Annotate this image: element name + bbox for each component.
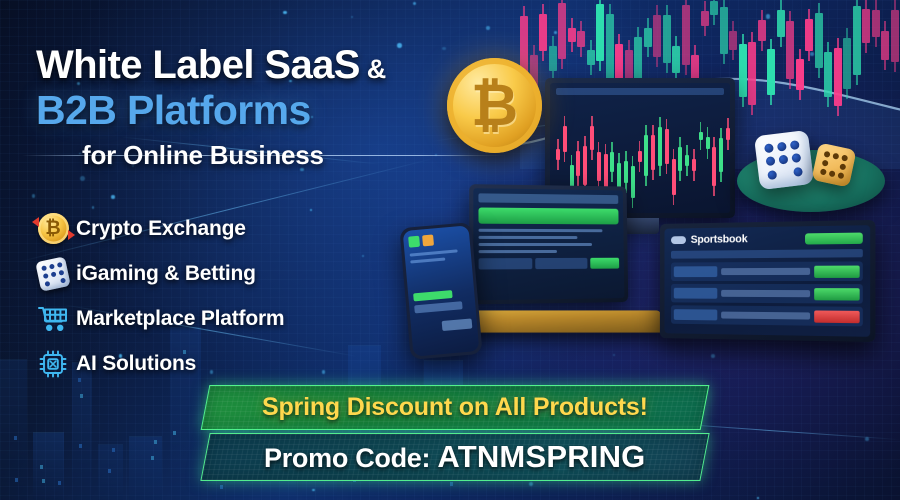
odds-cell <box>674 266 717 277</box>
bitcoin-coin-icon: ₿ <box>30 209 76 249</box>
headline-line-3-wrap: for Online Business <box>36 140 436 170</box>
bitcoin-glyph: ₿ <box>45 219 60 238</box>
feature-label: AI Solutions <box>76 352 196 376</box>
place-bet-button <box>814 288 859 300</box>
feature-item-ai-solutions: AI Solutions <box>30 341 284 386</box>
sportsbook-bet-row <box>671 261 863 281</box>
headline-line-3: for Online Business <box>74 140 332 171</box>
team-name-cell <box>721 290 810 297</box>
smartphone-device <box>399 222 482 360</box>
sportsbook-bet-row <box>671 284 863 304</box>
team-name-cell <box>721 268 810 275</box>
team-name-cell <box>721 312 810 320</box>
headline-line-2: B2B Platforms <box>36 88 436 134</box>
sportsbook-title: Sportsbook <box>691 233 748 246</box>
headline-ampersand: & <box>360 54 386 84</box>
promo-banner: Spring Discount on All Products! Promo C… <box>205 385 705 481</box>
feature-label: iGaming & Betting <box>76 262 256 286</box>
promo-code-value: ATNMSPRING <box>438 439 646 474</box>
bitcoin-symbol: ₿ <box>471 77 518 135</box>
laptop-device <box>469 184 628 304</box>
promo-code-line: Promo Code: ATNMSPRING <box>264 439 646 475</box>
promo-code-prefix: Promo Code: <box>264 443 430 473</box>
headline-line-1-text: White Label SaaS <box>36 43 360 87</box>
bitcoin-coin-hero-icon: ₿ <box>447 58 542 153</box>
discount-text: Spring Discount on All Products! <box>262 393 648 422</box>
feature-label: Crypto Exchange <box>76 217 246 241</box>
sportsbook-tv-device: Sportsbook <box>660 220 876 342</box>
odds-cell <box>674 288 717 299</box>
dice-icon <box>30 254 76 294</box>
feature-item-marketplace-platform: Marketplace Platform <box>30 296 284 341</box>
sportsbook-tabs <box>671 249 863 259</box>
feature-list: ₿ Crypto Exchange iGaming & Betting Mark… <box>30 206 284 386</box>
place-bet-button <box>814 310 859 323</box>
headline-block: White Label SaaS & B2B Platforms for Onl… <box>36 44 436 170</box>
shopping-cart-icon <box>30 299 76 339</box>
discount-bar: Spring Discount on All Products! <box>201 385 710 430</box>
gold-dice-icon <box>811 142 856 187</box>
feature-item-igaming-betting: iGaming & Betting <box>30 251 284 296</box>
white-dice-icon <box>754 130 814 190</box>
promotional-banner: ₿ <box>0 0 900 500</box>
sportsbook-cta-button <box>805 232 863 244</box>
place-bet-button <box>814 265 859 277</box>
headline-line-1: White Label SaaS & <box>36 44 436 86</box>
odds-cell <box>674 309 717 320</box>
promo-code-bar: Promo Code: ATNMSPRING <box>200 433 709 481</box>
cpu-chip-icon <box>30 344 76 384</box>
sportsbook-logo-icon <box>671 236 686 244</box>
feature-item-crypto-exchange: ₿ Crypto Exchange <box>30 206 284 251</box>
sportsbook-bet-row <box>671 305 863 326</box>
feature-label: Marketplace Platform <box>76 307 284 331</box>
